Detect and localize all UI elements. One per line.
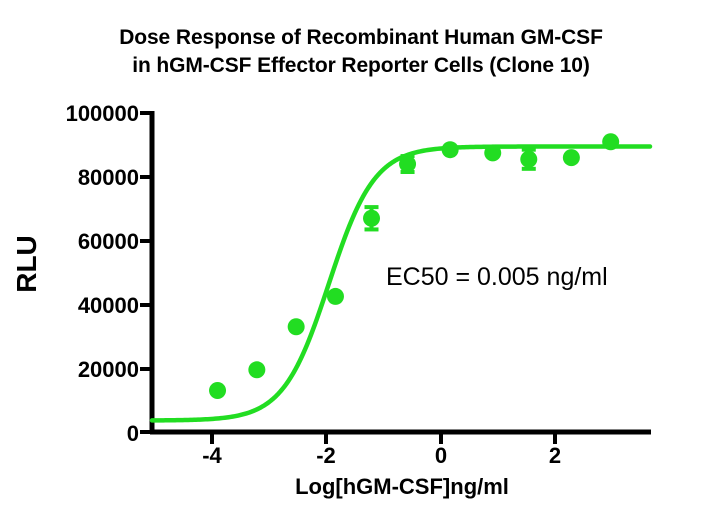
x-tick-label-minus2: -2 — [296, 443, 356, 469]
x-tick-label-0: 0 — [411, 443, 471, 469]
y-tick-label-60000: 60000 — [19, 229, 139, 255]
data-point-marker — [563, 149, 580, 166]
data-point-marker — [442, 141, 459, 158]
y-tick-label-20000: 20000 — [19, 357, 139, 383]
chart-figure: Dose Response of Recombinant Human GM-CS… — [0, 0, 722, 531]
y-tick-label-100000: 100000 — [19, 101, 139, 127]
data-point-marker — [484, 144, 501, 161]
x-axis-label: Log[hGM-CSF]ng/ml — [152, 474, 652, 500]
plot-area — [0, 0, 722, 531]
data-point-marker — [520, 151, 537, 168]
ec50-annotation: EC50 = 0.005 ng/ml — [386, 263, 608, 292]
chart-title-line-2: in hGM-CSF Effector Reporter Cells (Clon… — [0, 52, 722, 80]
chart-title: Dose Response of Recombinant Human GM-CS… — [0, 24, 722, 79]
data-point-marker — [327, 288, 344, 305]
y-tick-label-80000: 80000 — [19, 165, 139, 191]
y-tick-label-0: 0 — [19, 421, 139, 447]
x-tick-label-minus4: -4 — [182, 443, 242, 469]
data-point-marker — [209, 382, 226, 399]
data-point-marker — [602, 133, 619, 150]
chart-title-line-1: Dose Response of Recombinant Human GM-CS… — [0, 24, 722, 52]
data-point-marker — [363, 210, 380, 227]
data-point-marker — [248, 361, 265, 378]
x-tick-label-2: 2 — [525, 443, 585, 469]
data-point-marker — [288, 318, 305, 335]
data-point-marker — [399, 156, 416, 173]
y-tick-label-40000: 40000 — [19, 293, 139, 319]
